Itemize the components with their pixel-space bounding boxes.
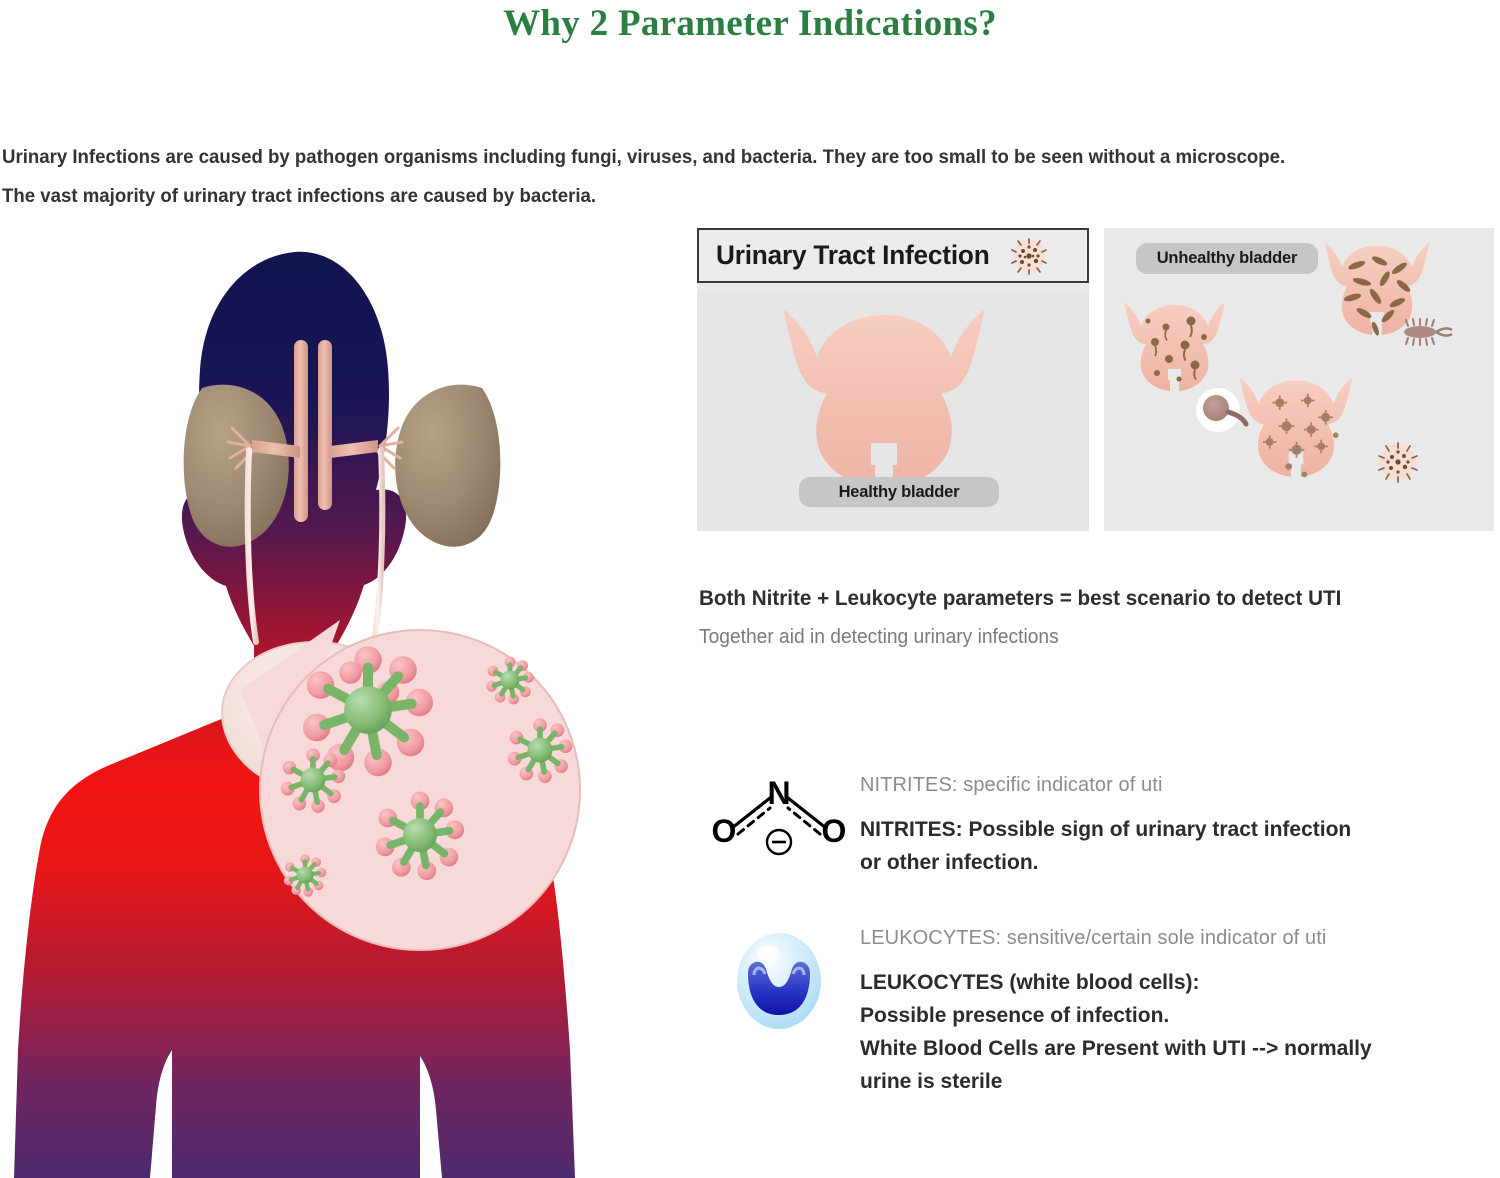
nitrites-heavy-text: NITRITES: Possible sign of urinary tract…: [860, 813, 1497, 879]
urinary-tract-infection-panel: Urinary Tract Infection: [697, 228, 1089, 531]
nitrites-parameter-row: N O O NITRITES: specific indicator of ut…: [697, 772, 1497, 879]
leukocytes-light-line: LEUKOCYTES: sensitive/certain sole indic…: [860, 927, 1497, 950]
uti-panel-title: Urinary Tract Infection: [716, 240, 990, 271]
oxygen-right-label: O: [821, 813, 846, 849]
uti-panel-header: Urinary Tract Infection: [697, 228, 1089, 283]
leukocytes-heavy-line-1: LEUKOCYTES (white blood cells):: [860, 966, 1497, 999]
nitrites-light-line: NITRITES: specific indicator of uti: [860, 774, 1497, 797]
right-kidney: [395, 385, 500, 547]
human-silhouette-svg: [0, 250, 680, 1178]
nitrites-text: NITRITES: specific indicator of uti NITR…: [860, 772, 1497, 879]
page-title: Why 2 Parameter Indications?: [0, 2, 1500, 45]
parasite-icon: [1404, 319, 1452, 345]
oxygen-left-label: O: [711, 813, 736, 849]
nitrogen-label: N: [767, 775, 790, 811]
sperm-shaped-pathogen-icon: [1196, 388, 1246, 432]
nitrites-heavy-line-2: or other infection.: [860, 846, 1497, 879]
leukocytes-heavy-text: LEUKOCYTES (white blood cells): Possible…: [860, 966, 1497, 1098]
negative-charge-symbol: [767, 830, 791, 854]
bladder-with-viruses-icon: [1239, 377, 1352, 477]
leukocytes-text: LEUKOCYTES: sensitive/certain sole indic…: [860, 925, 1497, 1098]
intro-paragraph: Urinary Infections are caused by pathoge…: [2, 138, 1431, 216]
human-silhouette-figure: [0, 250, 680, 1178]
nitrite-molecule-icon: N O O: [697, 772, 860, 879]
summary-text-block: Both Nitrite + Leukocyte parameters = be…: [699, 586, 1489, 649]
intro-line-1: Urinary Infections are caused by pathoge…: [2, 138, 1431, 177]
unhealthy-bladder-panel: Unhealthy bladder: [1104, 228, 1494, 531]
leukocytes-heavy-line-2: Possible presence of infection.: [860, 999, 1497, 1032]
summary-strong-line: Both Nitrite + Leukocyte parameters = be…: [699, 586, 1457, 611]
nitrites-heavy-line-1: NITRITES: Possible sign of urinary tract…: [860, 813, 1497, 846]
bacteria-cluster-icon: [1008, 235, 1050, 277]
healthy-bladder-caption: Healthy bladder: [799, 477, 999, 507]
uti-panel-body: Healthy bladder: [697, 291, 1089, 531]
leukocytes-parameter-row: LEUKOCYTES: sensitive/certain sole indic…: [697, 925, 1497, 1098]
leukocytes-heavy-line-3: White Blood Cells are Present with UTI ‐…: [860, 1032, 1497, 1065]
summary-sub-line: Together aid in detecting urinary infect…: [699, 626, 1457, 649]
leukocytes-heavy-line-4: urine is sterile: [860, 1065, 1497, 1098]
virus-cluster-icon: [1379, 443, 1417, 482]
intro-line-2: The vast majority of urinary tract infec…: [2, 177, 1431, 216]
leukocyte-cell-icon: [697, 925, 860, 1098]
bladder-with-fungi-icon: [1124, 302, 1225, 391]
unhealthy-bladder-caption: Unhealthy bladder: [1136, 243, 1318, 274]
